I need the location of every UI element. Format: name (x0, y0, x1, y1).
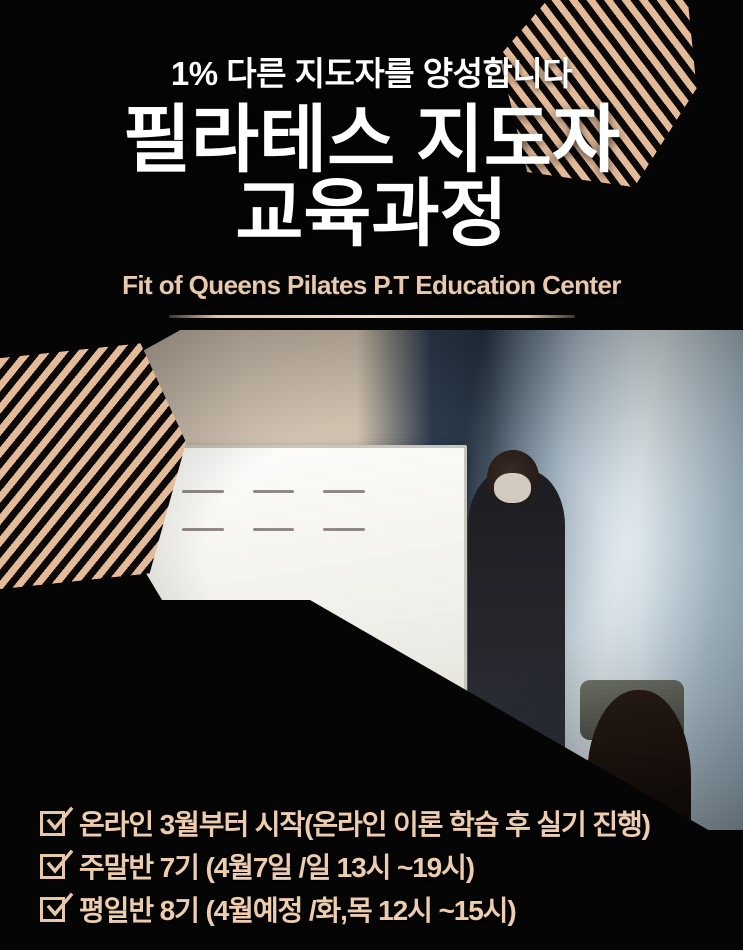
pilates-education-poster: 1% 다른 지도자를 양성합니다 필라테스 지도자 교육과정 Fit of Qu… (0, 0, 743, 950)
tagline: 1% 다른 지도자를 양성합니다 (0, 0, 743, 92)
list-item: 온라인 3월부터 시작(온라인 이론 학습 후 실기 진행) (40, 806, 720, 840)
subtitle: Fit of Queens Pilates P.T Education Cent… (0, 250, 743, 301)
list-item-label: 주말반 7기 (4월7일 /일 13시 ~19시) (79, 846, 474, 886)
subtitle-divider (169, 315, 575, 318)
checked-checkbox-icon (40, 897, 65, 922)
checked-checkbox-icon (40, 854, 65, 879)
photo-instructor-mask (494, 473, 531, 503)
list-item-label: 온라인 3월부터 시작(온라인 이론 학습 후 실기 진행) (79, 803, 650, 843)
page-title: 필라테스 지도자 교육과정 (0, 92, 743, 250)
checked-checkbox-icon (40, 811, 65, 836)
title-line-2: 교육과정 (0, 178, 743, 250)
list-item-label: 평일반 8기 (4월예정 /화,목 12시 ~15시) (79, 889, 516, 929)
list-item: 주말반 7기 (4월7일 /일 13시 ~19시) (40, 849, 720, 883)
title-line-1: 필라테스 지도자 (123, 98, 620, 181)
poster-header: 1% 다른 지도자를 양성합니다 필라테스 지도자 교육과정 Fit of Qu… (0, 0, 743, 318)
list-item: 평일반 8기 (4월예정 /화,목 12시 ~15시) (40, 892, 720, 926)
course-schedule-list: 온라인 3월부터 시작(온라인 이론 학습 후 실기 진행) 주말반 7기 (4… (40, 806, 720, 935)
